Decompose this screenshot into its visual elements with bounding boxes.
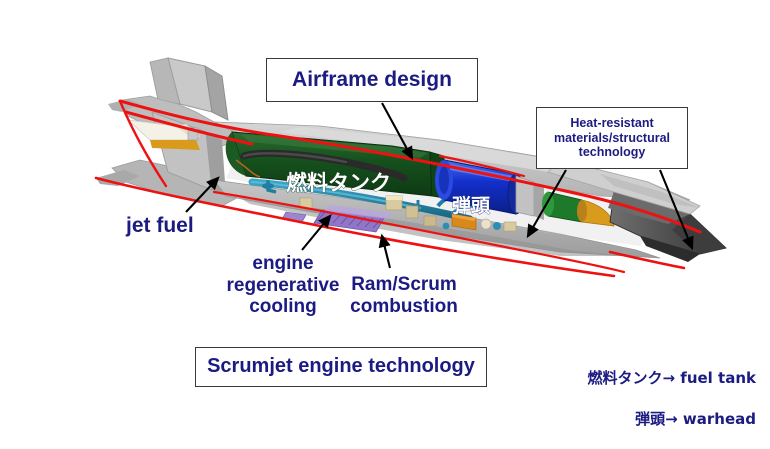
callout-airframe-design: Airframe design — [266, 58, 478, 102]
arrow-ram-scram — [382, 236, 390, 268]
legend-line-fuel-tank: 燃料タンク→ fuel tank — [520, 368, 756, 388]
translation-legend: 燃料タンク→ fuel tank 弾頭→ warhead — [520, 348, 756, 449]
diagram-canvas: 燃料タンク 弾頭 Airframe design Heat-resistant … — [0, 0, 770, 410]
annotation-jet-fuel: jet fuel — [126, 214, 236, 238]
legend-line-warhead: 弾頭→ warhead — [520, 409, 756, 429]
warhead-label: 弾頭 — [452, 194, 491, 217]
callout-heat-resistant-materials: Heat-resistant materials/structural tech… — [536, 107, 688, 169]
annotation-ram-scram-combustion: Ram/Scrum combustion — [330, 274, 478, 317]
callout-scramjet-engine-technology: Scrumjet engine technology — [195, 347, 487, 387]
fuel-tank-label: 燃料タンク — [286, 171, 391, 195]
